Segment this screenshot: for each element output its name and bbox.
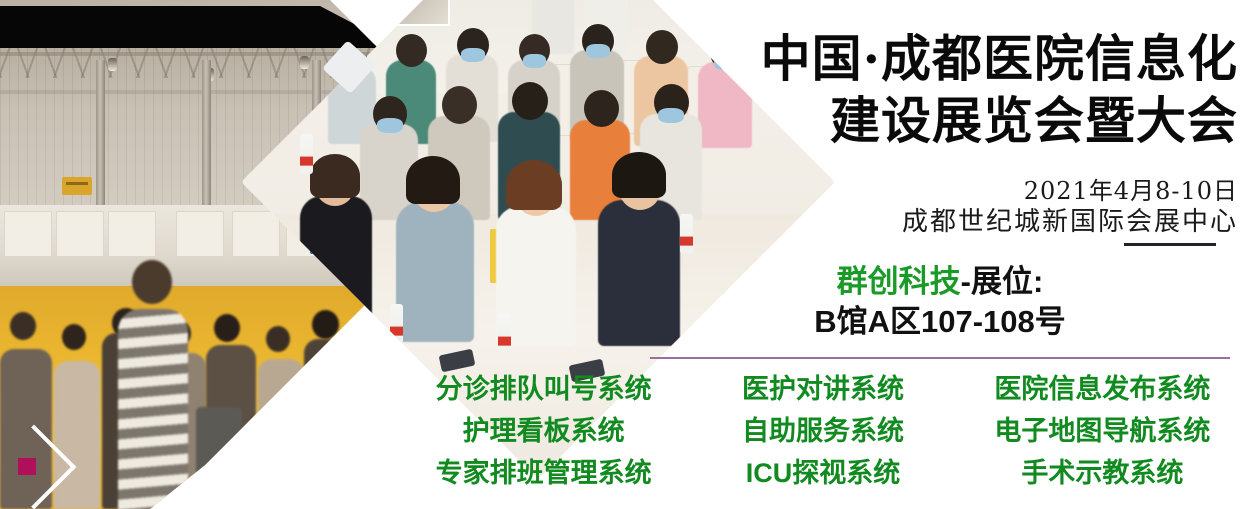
exhibition-promo-banner: 中国·成都医院信息化 建设展览会暨大会 2021年4月8-10日 成都世纪城新国…: [0, 0, 1252, 509]
service-item: ICU探视系统: [746, 457, 901, 489]
service-item: 手术示教系统: [1021, 457, 1183, 489]
hall-sign-yellow: [62, 177, 92, 195]
ceiling-lamp: [300, 56, 309, 69]
company-name: 群创科技: [837, 264, 961, 299]
service-item: 专家排班管理系统: [436, 457, 652, 489]
magenta-square-accent: [18, 458, 36, 475]
booth-info: 群创科技-展位: B馆A区107-108号: [650, 262, 1230, 342]
event-title-line1: 中国·成都医院信息化: [761, 29, 1238, 88]
booth-label-suffix: -展位:: [961, 264, 1044, 299]
ceiling-lamp: [108, 58, 117, 71]
wall-poster: [390, 0, 450, 26]
venue-underline: [1124, 243, 1216, 246]
service-item: 分诊排队叫号系统: [436, 373, 652, 405]
service-item: 医院信息发布系统: [994, 373, 1210, 405]
service-item: 护理看板系统: [463, 415, 625, 447]
service-item: 电子地图导航系统: [994, 415, 1210, 447]
service-item: 自助服务系统: [742, 415, 904, 447]
event-title: 中国·成都医院信息化 建设展览会暨大会: [658, 28, 1238, 152]
event-date: 2021年4月8-10日: [718, 176, 1238, 206]
event-title-line2: 建设展览会暨大会: [658, 90, 1238, 152]
event-venue: 成都世纪城新国际会展中心: [718, 206, 1238, 238]
services-grid: 分诊排队叫号系统 医护对讲系统 医院信息发布系统 护理看板系统 自助服务系统 电…: [404, 368, 1242, 494]
service-item: 医护对讲系统: [742, 373, 904, 405]
booth-company-line: 群创科技-展位:: [650, 262, 1230, 302]
purple-divider: [650, 357, 1230, 359]
booth-location: B馆A区107-108号: [650, 302, 1230, 342]
